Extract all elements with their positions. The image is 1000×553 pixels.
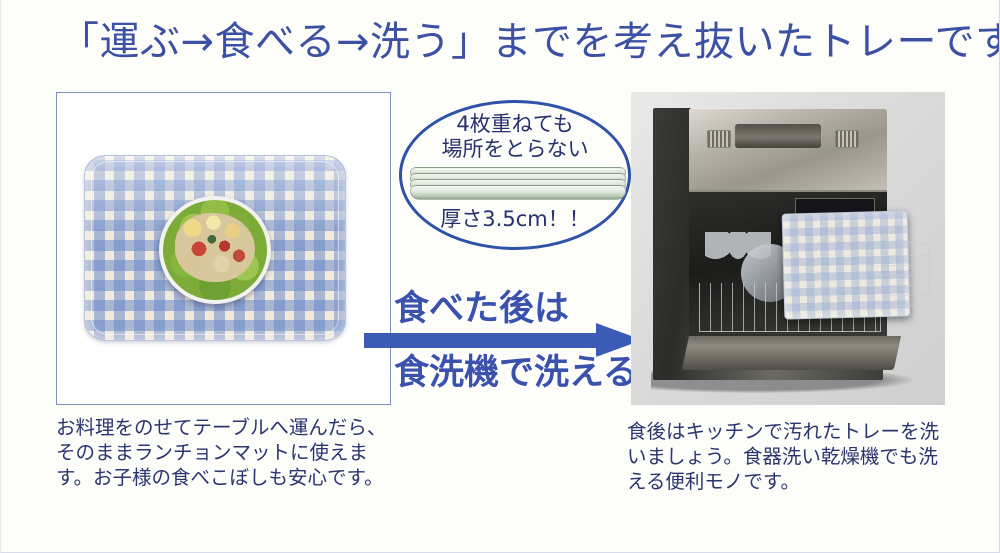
arrow-shaft (364, 333, 600, 348)
salad-topping-graphic (175, 213, 256, 282)
tray-photo (84, 155, 346, 341)
page-title: 「運ぶ→食べる→洗う」までを考え抜いたトレーです。 (59, 17, 959, 67)
dishwasher-top-panel (689, 108, 887, 190)
dishwasher-open-door (682, 336, 901, 370)
left-caption: お料理をのせてテーブルへ運んだら、そのままランチョンマットに使えます。お子様の食… (56, 415, 396, 490)
advertisement-page: 「運ぶ→食べる→洗う」までを考え抜いたトレーです。 4枚重ねても 場所をとらない… (0, 0, 1000, 553)
right-caption: 食後はキッチンで汚れたトレーを洗いましょう。食器洗い乾燥機でも洗える便利モノです… (627, 419, 957, 494)
callout-thickness-text: 厚さ3.5cm！！ (402, 207, 628, 232)
vent-left-icon (707, 130, 731, 148)
gingham-tray-graphic (84, 155, 346, 341)
vent-right-icon (835, 130, 859, 148)
callout-line-1: 4枚重ねても (402, 112, 628, 137)
left-photo-panel (56, 92, 391, 405)
dishwasher-handle (735, 124, 821, 148)
stack-layer (410, 185, 626, 200)
stacked-trays-photo (410, 167, 626, 201)
side-basket (885, 242, 930, 306)
dishwasher-photo (631, 92, 945, 405)
callout-line-2: 場所をとらない (402, 137, 628, 162)
arrow-label-bottom: 食洗機で洗える (394, 352, 654, 394)
stacking-callout-oval: 4枚重ねても 場所をとらない 厚さ3.5cm！！ (399, 100, 631, 250)
salad-plate-graphic (159, 196, 271, 304)
